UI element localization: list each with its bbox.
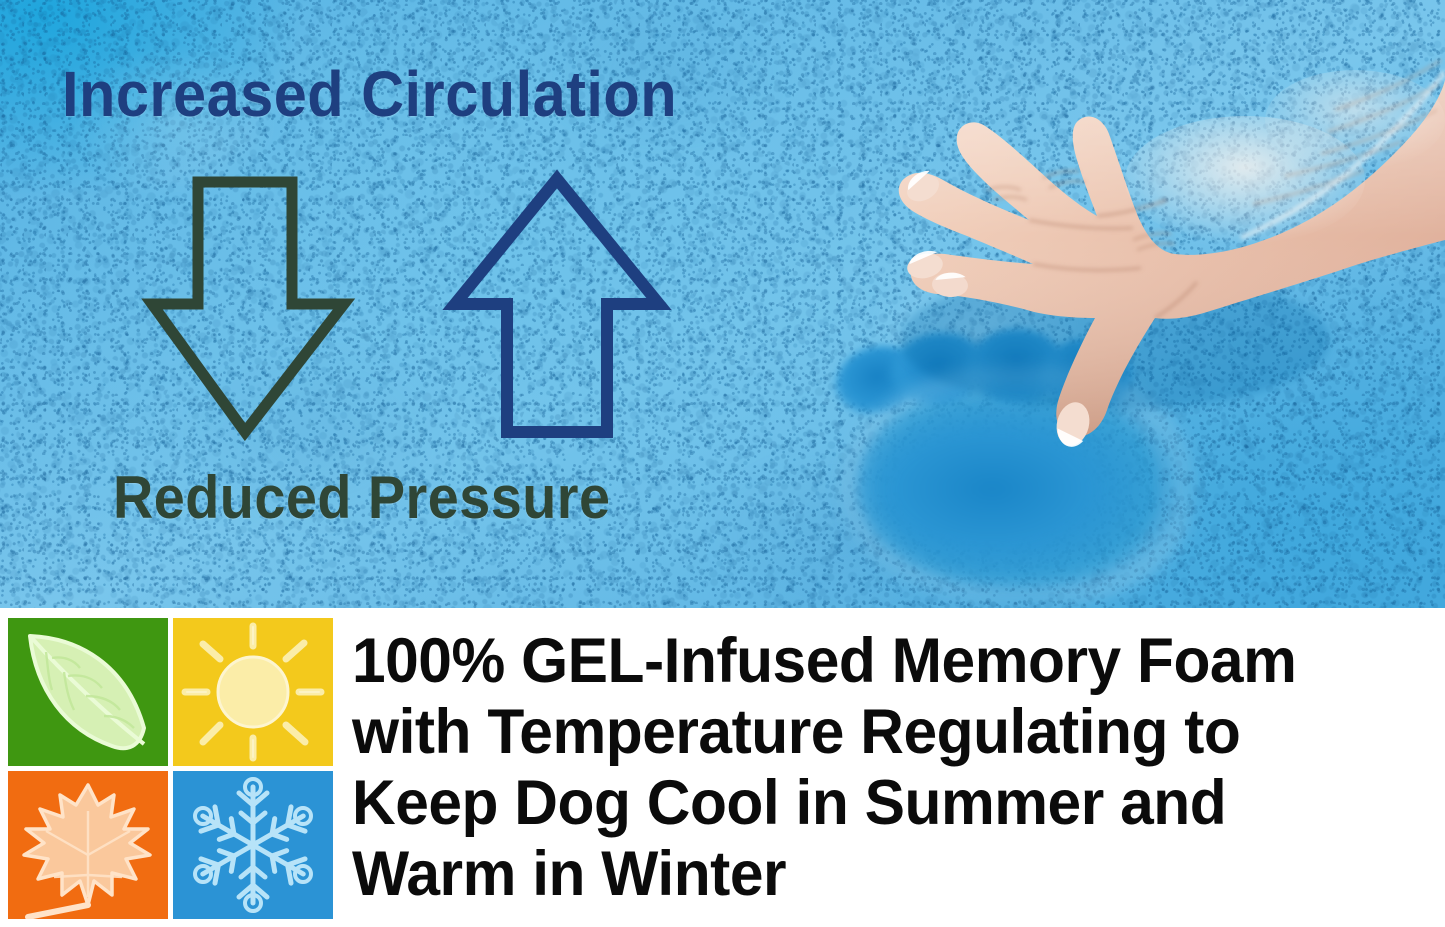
maple-leaf-icon — [8, 771, 168, 919]
headline-line: 100% GEL-Infused Memory Foam — [352, 626, 1401, 697]
sun-icon — [173, 618, 333, 766]
reduced-pressure-label: Reduced Pressure — [113, 463, 610, 532]
hand-pressing-foam — [815, 0, 1445, 608]
gel-memory-foam-photo: Increased Circulation Reduced Pressure — [0, 0, 1445, 608]
product-claim-strip: 100% GEL-Infused Memory Foam with Temper… — [0, 608, 1445, 927]
hand — [815, 0, 1445, 608]
headline-line: with Temperature Regulating to — [352, 697, 1401, 768]
snowflake-icon — [173, 771, 333, 919]
season-icon-grid — [8, 618, 333, 918]
product-feature-graphic: Increased Circulation Reduced Pressure — [0, 0, 1445, 927]
down-arrow-icon — [146, 176, 352, 438]
headline-line: Warm in Winter — [352, 839, 1401, 910]
headline-line: Keep Dog Cool in Summer and — [352, 768, 1401, 839]
up-arrow-icon — [449, 173, 665, 438]
increased-circulation-label: Increased Circulation — [62, 57, 677, 131]
leaf-icon — [8, 618, 168, 766]
headline-text: 100% GEL-Infused Memory Foam with Temper… — [352, 626, 1401, 910]
